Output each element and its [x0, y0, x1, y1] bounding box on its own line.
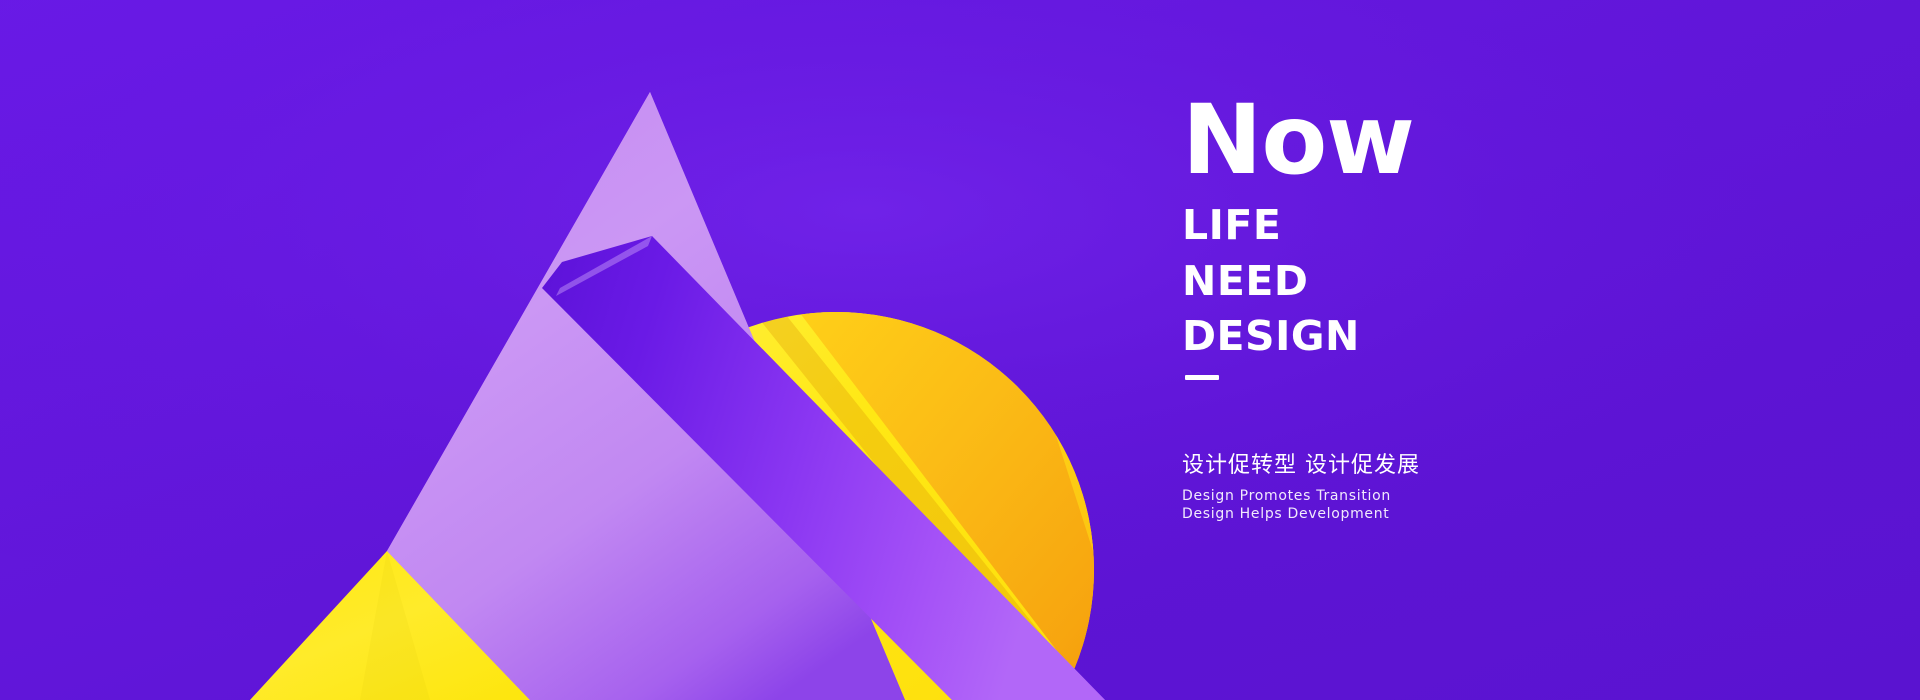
- tagline-chinese: 设计促转型 设计促发展: [1182, 452, 1420, 480]
- tagline-block: 设计促转型 设计促发展 Design Promotes Transition D…: [1182, 452, 1420, 524]
- headline-line-need: NEED: [1182, 260, 1602, 303]
- tagline-english-line-1: Design Promotes Transition: [1182, 487, 1420, 506]
- abstract-geometric-composition: [0, 0, 1920, 700]
- headline-line-life: LIFE: [1182, 204, 1602, 247]
- headline-block: Now LIFE NEED DESIGN: [1182, 96, 1602, 380]
- headline-now: Now: [1182, 96, 1602, 184]
- headline-divider-rule: [1185, 375, 1219, 380]
- headline-line-design: DESIGN: [1182, 315, 1602, 358]
- hero-banner: Now LIFE NEED DESIGN 设计促转型 设计促发展 Design …: [0, 0, 1920, 700]
- tagline-english-line-2: Design Helps Development: [1182, 505, 1420, 524]
